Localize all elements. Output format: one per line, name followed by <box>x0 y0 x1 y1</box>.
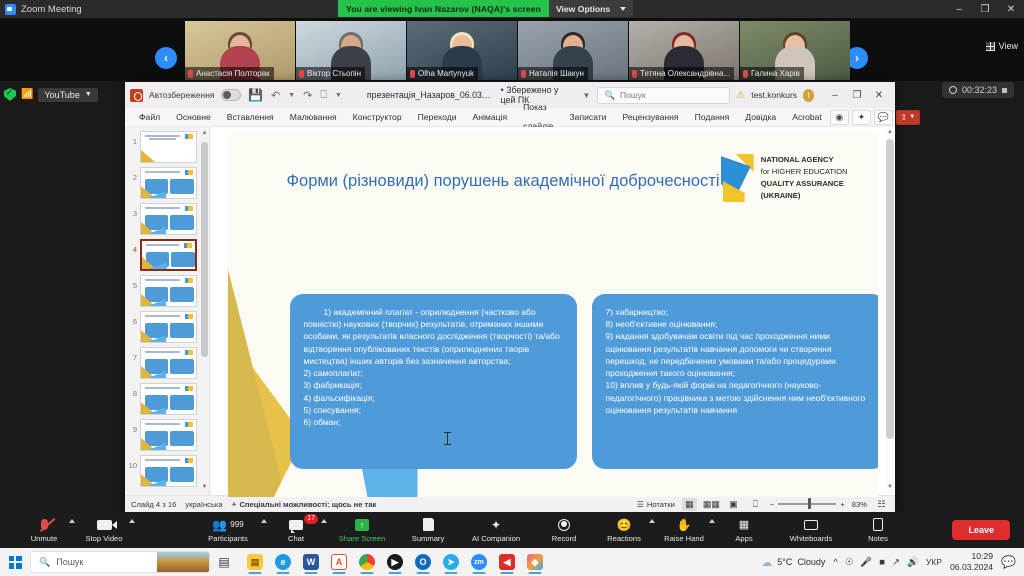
share-screen-label: Share Screen <box>339 534 385 543</box>
powerpoint-close-button[interactable]: ✕ <box>868 85 890 105</box>
violation-item-3: 3) фабрикація; <box>304 379 563 391</box>
taskbar-app-microsoft-word[interactable]: W <box>298 549 324 575</box>
participant-tile[interactable]: Галина Харів <box>740 21 850 80</box>
ribbon-tab-record[interactable]: Записати <box>561 108 614 127</box>
slide-preview[interactable] <box>140 167 197 199</box>
show-hidden-icons-icon[interactable]: ^ <box>833 557 837 568</box>
zoom-icon: zm <box>471 554 487 570</box>
document-title[interactable]: презентація_Назаров_06.03… <box>367 90 491 100</box>
scroll-down-icon[interactable]: ▼ <box>201 484 208 492</box>
participants-count: 999 <box>230 520 243 529</box>
ai-sparkle-icon: ✦ <box>491 517 501 532</box>
scroll-up-icon[interactable]: ▲ <box>201 130 208 138</box>
microphone-muted-icon <box>188 70 193 78</box>
participant-name-bar: Olha Martynyuk <box>407 67 478 80</box>
slide-number: 1 <box>128 131 137 146</box>
participant-name-bar: Галина Харів <box>740 67 804 80</box>
slide-preview[interactable] <box>140 203 197 235</box>
view-slide-sorter-button[interactable]: ▦▦ <box>704 498 719 511</box>
chevron-down-icon <box>620 7 626 11</box>
status-bar-right: ☰ Нотатки ▦ ▦▦ ▣ ⎕ − + 83% ☷ <box>637 498 889 511</box>
whiteboards-button[interactable]: Whiteboards <box>774 517 848 543</box>
search-highlight-thumbnail <box>157 552 209 573</box>
notifications-button[interactable]: 💬 <box>1001 555 1016 569</box>
copilot-button[interactable]: ✦ <box>852 110 871 125</box>
notes-label: Notes <box>868 534 888 543</box>
reactions-label: Reactions <box>607 534 641 543</box>
violation-item-2: 2) самоплагіат; <box>304 367 563 379</box>
violation-item-4: 4) фальсифікація; <box>304 392 563 404</box>
slide-thumbnail-item[interactable]: 10 <box>125 455 209 487</box>
naqa-line-3: QUALITY ASSURANCE <box>761 178 848 190</box>
ribbon-tab-home[interactable]: Основне <box>168 108 219 127</box>
search-icon: 🔍 <box>39 557 50 568</box>
naqa-line-4: (UKRAINE) <box>761 190 848 202</box>
slide-thumbnail-panel[interactable]: 1 2 <box>125 127 210 495</box>
participant-video-strip: ‹ › View Анастасія Полторак <box>0 18 1024 81</box>
view-options-button[interactable]: View Options <box>549 0 633 17</box>
slide-thumbnail-item[interactable]: 9 <box>125 419 209 451</box>
wifi-icon[interactable]: ↗ <box>892 557 900 568</box>
zoom-out-button[interactable]: − <box>770 500 774 509</box>
whiteboard-icon <box>804 517 818 532</box>
participant-tile[interactable]: Наталія Шакун <box>518 21 628 80</box>
accessibility-icon: ⚹ <box>232 499 237 509</box>
microphone-icon[interactable]: 🎤 <box>860 557 872 568</box>
cloud-icon: ☁ <box>761 556 772 569</box>
screen-share-banner: You are viewing Ivan Nazarov (NAQA)'s sc… <box>338 0 633 17</box>
warning-icon: ⚠ <box>736 90 745 101</box>
zoom-minimize-button[interactable]: – <box>946 0 972 18</box>
weather-description: Cloudy <box>797 557 825 567</box>
battery-icon[interactable]: ■ <box>879 557 885 568</box>
adobe-acrobat-icon: A <box>331 554 347 570</box>
taskbar-app-file-explorer[interactable]: ▤ <box>242 549 268 575</box>
powerpoint-search-input[interactable]: 🔍 Пошук <box>597 87 730 104</box>
chat-unread-badge: 17 <box>304 514 318 524</box>
google-chrome-icon <box>359 554 375 570</box>
raise-hand-label: Raise Hand <box>664 534 704 543</box>
decorative-gold-shape-2 <box>228 267 286 497</box>
camera-icon <box>97 517 112 532</box>
account-name[interactable]: test.konkurs <box>751 90 797 100</box>
apps-label: Apps <box>735 534 752 543</box>
slide-thumbnail-item[interactable]: 7 <box>125 347 209 379</box>
violation-item-1: 1) академічний плагіат - оприлюднення (ч… <box>304 306 563 367</box>
slide-thumbnail-item[interactable]: 2 <box>125 167 209 199</box>
slide-number: 2 <box>128 167 137 182</box>
zoom-titlebar: Zoom Meeting You are viewing Ivan Nazaro… <box>0 0 1024 18</box>
participants-button[interactable]: 👥 999 Participants <box>190 517 266 543</box>
leave-meeting-button[interactable]: Leave <box>952 520 1010 540</box>
scroll-down-icon[interactable]: ▼ <box>886 484 894 493</box>
start-presentation-icon[interactable]: ⎕ <box>319 89 328 102</box>
media-player-icon: ▶ <box>387 554 403 570</box>
zoom-window-controls: – ❐ ✕ <box>946 0 1024 18</box>
text-cursor-icon <box>447 432 448 445</box>
zoom-window-title: Zoom Meeting <box>21 4 82 15</box>
whiteboards-label: Whiteboards <box>790 534 833 543</box>
violation-item-8: 8) необ'єктивне оцінювання; <box>606 318 871 330</box>
zoom-slider-track[interactable] <box>778 503 836 505</box>
slide-preview[interactable] <box>140 239 197 271</box>
participant-name-bar: Тетяна Олександрівна... <box>629 67 734 80</box>
slide-number: 4 <box>128 239 137 254</box>
security-shield-icon <box>4 88 16 101</box>
undo-icon[interactable]: ↶ <box>270 89 281 102</box>
taskbar-app-zoom[interactable]: zm <box>466 549 492 575</box>
task-view-button[interactable]: ▤ <box>210 555 238 569</box>
weather-temperature: 5°C <box>777 557 792 567</box>
zoom-meeting-toolbar: Unmute Stop Video 👥 999 Participants 17 <box>0 512 1024 548</box>
microphone-muted-icon <box>521 70 526 78</box>
recording-indicator-icon <box>1002 88 1007 93</box>
ribbon-tab-draw[interactable]: Малювання <box>282 108 345 127</box>
record-icon <box>558 517 570 532</box>
thumbnail-panel-scrollbar[interactable]: ▲ ▼ <box>201 130 208 492</box>
reactions-icon: 😊 <box>617 517 632 532</box>
ribbon-tab-file[interactable]: Файл <box>131 108 168 127</box>
view-slideshow-button[interactable]: ⎕ <box>748 498 763 511</box>
tray-icons: ^ ☉ 🎤 ■ ↗ 🔊 УКР <box>833 557 942 568</box>
zoom-level-label[interactable]: 83% <box>852 500 867 509</box>
participant-name: Olha Martynyuk <box>418 69 474 78</box>
violation-item-7: 7) хабарництво; <box>606 306 871 318</box>
ribbon-tab-transitions[interactable]: Переходи <box>410 108 465 127</box>
participants-label: Participants <box>208 534 248 543</box>
summary-label: Summary <box>412 534 445 543</box>
taskbar-app-adobe-acrobat[interactable]: A <box>326 549 352 575</box>
taskbar-search-input[interactable]: 🔍 Пошук <box>30 551 210 573</box>
chat-label: Chat <box>288 534 304 543</box>
participant-tile[interactable]: Віктор Стьопін <box>296 21 406 80</box>
slide-preview[interactable] <box>140 131 197 163</box>
unmute-label: Unmute <box>31 534 58 543</box>
chevron-up-icon[interactable] <box>129 519 135 523</box>
slide-counter[interactable]: Слайд 4 з 16 <box>131 500 176 509</box>
violation-item-9: 9) надання здобувачам освіти під час про… <box>606 330 871 379</box>
naqa-logo-mark-icon <box>721 154 754 202</box>
naqa-logo-text: NATIONAL AGENCY for HIGHER EDUCATION QUA… <box>761 154 848 201</box>
taskbar-app-paint[interactable]: ◆ <box>522 549 548 575</box>
redo-icon[interactable]: ↷ <box>302 89 313 102</box>
microphone-muted-icon <box>41 517 48 532</box>
scrollbar-thumb[interactable] <box>201 142 208 357</box>
slide-thumbnail-item[interactable]: 8 <box>125 383 209 415</box>
present-button[interactable]: ◉ <box>830 110 849 125</box>
chevron-down-icon[interactable]: ▼ <box>582 91 592 100</box>
notes-toggle[interactable]: ☰ Нотатки <box>637 500 675 509</box>
current-slide[interactable]: Форми (різновиди) порушень академічної д… <box>228 132 878 497</box>
telegram-icon: ➤ <box>443 554 459 570</box>
slide-number: 10 <box>128 455 137 470</box>
view-options-label: View Options <box>556 4 610 14</box>
windows-logo-icon <box>9 556 22 569</box>
slide-area-scrollbar[interactable]: ▲ ▼ <box>886 129 894 493</box>
stop-video-button[interactable]: Stop Video <box>74 517 134 543</box>
slide-preview[interactable] <box>140 347 197 379</box>
microphone-muted-icon <box>743 70 748 78</box>
raise-hand-button[interactable]: ✋ Raise Hand <box>654 517 714 543</box>
stop-video-label: Stop Video <box>85 534 122 543</box>
violation-item-6: 6) обман; <box>304 416 563 428</box>
powerpoint-workspace: 1 2 <box>125 127 895 495</box>
broadcast-icon: 📶 <box>21 89 33 100</box>
volume-icon[interactable]: 🔊 <box>907 557 919 568</box>
ribbon-tab-review[interactable]: Рецензування <box>615 108 687 127</box>
slide-preview[interactable] <box>140 275 197 307</box>
slide-thumbnail-item-selected[interactable]: 4 <box>125 239 209 271</box>
powerpoint-minimize-button[interactable]: – <box>824 85 846 105</box>
accessibility-label: Спеціальні можливості: щось не так <box>239 500 376 509</box>
violation-item-5: 5) списування; <box>304 404 563 416</box>
naqa-logo: NATIONAL AGENCY for HIGHER EDUCATION QUA… <box>721 154 848 202</box>
ribbon-right-actions: ◉ ✦ 💬 ⇧▼ <box>830 110 920 125</box>
share-screen-button[interactable]: ↑ Share Screen <box>326 517 398 543</box>
notes-button[interactable]: Notes <box>848 517 908 543</box>
desktop-root: Zoom Meeting You are viewing Ivan Nazaro… <box>0 0 1024 576</box>
save-icon[interactable]: 💾 <box>247 88 264 102</box>
meeting-elapsed-time: 00:32:23 <box>962 85 997 95</box>
participant-tile[interactable]: Olha Martynyuk <box>407 21 517 80</box>
share-screen-icon: ↑ <box>355 517 369 532</box>
ribbon-tab-view[interactable]: Подання <box>687 108 738 127</box>
participant-tile[interactable]: Тетяна Олександрівна... <box>629 21 739 80</box>
youtube-stream-button[interactable]: YouTube ▼ <box>38 88 97 102</box>
slide-number: 3 <box>128 203 137 218</box>
microsoft-word-icon: W <box>303 554 319 570</box>
powerpoint-app-icon <box>130 89 143 102</box>
view-normal-button[interactable]: ▦ <box>682 498 697 511</box>
accessibility-status[interactable]: ⚹ Спеціальні можливості: щось не так <box>232 499 377 509</box>
ribbon-tab-insert[interactable]: Вставлення <box>219 108 282 127</box>
taskbar-app-google-chrome[interactable] <box>354 549 380 575</box>
view-reading-button[interactable]: ▣ <box>726 498 741 511</box>
clock-widget[interactable]: 10:29 06.03.2024 <box>950 551 993 572</box>
participant-name: Віктор Стьопін <box>307 69 361 78</box>
slide-preview[interactable] <box>140 383 197 415</box>
ribbon-tab-bar: Файл Основне Вставлення Малювання Констр… <box>125 108 895 127</box>
share-notice-text: You are viewing Ivan Nazarov (NAQA)'s sc… <box>338 0 549 17</box>
windows-taskbar: 🔍 Пошук ▤ ▤ e W A ▶ O ➤ zm ◀ ◆ ☁ 5°C Clo… <box>0 548 1024 576</box>
raise-hand-icon: ✋ <box>677 517 692 532</box>
slide-preview[interactable] <box>140 419 197 451</box>
zoom-in-button[interactable]: + <box>840 500 844 509</box>
participant-name: Наталія Шакун <box>529 69 584 78</box>
search-icon: 🔍 <box>604 90 615 101</box>
fit-to-window-button[interactable]: ☷ <box>874 498 889 511</box>
previous-participants-button[interactable]: ‹ <box>155 47 177 69</box>
slide-thumbnail-item[interactable]: 1 <box>125 131 209 163</box>
zoom-slider-handle[interactable] <box>808 498 811 509</box>
record-label: Record <box>552 534 576 543</box>
participant-name: Анастасія Полторак <box>196 69 270 78</box>
powerpoint-titlebar: Автозбереження 💾 ↶ ▼ ↷ ⎕ ▼ презентація_Н… <box>125 82 895 108</box>
slide-content-box-right[interactable]: 7) хабарництво; 8) необ'єктивне оцінюван… <box>592 294 878 469</box>
powerpoint-window-controls: – ❐ ✕ <box>824 85 890 105</box>
apps-icon: ▦ <box>739 517 749 532</box>
start-button[interactable] <box>0 556 30 569</box>
taskbar-date: 06.03.2024 <box>950 562 993 573</box>
zoom-maximize-button[interactable]: ❐ <box>972 0 998 18</box>
language-indicator[interactable]: українська <box>185 500 222 509</box>
ribbon-tab-acrobat[interactable]: Acrobat <box>784 108 830 127</box>
meeting-timer: 00:32:23 <box>942 82 1014 98</box>
view-button-label: View <box>999 41 1018 51</box>
live-stream-indicator[interactable]: 📶 YouTube ▼ <box>4 86 98 103</box>
zoom-slider[interactable]: − + <box>770 500 845 509</box>
notes-icon: ☰ <box>637 500 644 509</box>
taskbar-app-media-player[interactable]: ▶ <box>382 549 408 575</box>
grid-view-icon <box>986 42 995 51</box>
participant-name-bar: Віктор Стьопін <box>296 67 365 80</box>
weather-widget[interactable]: ☁ 5°C Cloudy <box>761 556 825 569</box>
slide-number: 6 <box>128 311 137 326</box>
participant-tile[interactable]: Анастасія Полторак <box>185 21 295 80</box>
summary-button[interactable]: Summary <box>398 517 458 543</box>
microphone-muted-icon <box>299 70 304 78</box>
zoom-logo-icon <box>5 4 16 15</box>
slide-title[interactable]: Форми (різновиди) порушень академічної д… <box>276 170 731 193</box>
participant-name: Галина Харів <box>751 69 800 78</box>
zoom-close-button[interactable]: ✕ <box>998 0 1024 18</box>
undo-dropdown-icon[interactable]: ▼ <box>287 92 296 99</box>
outlook-icon: O <box>415 554 431 570</box>
autosave-label: Автозбереження <box>149 90 215 100</box>
customize-toolbar-icon[interactable]: ▼ <box>334 92 343 99</box>
taskbar-app-outlook[interactable]: O <box>410 549 436 575</box>
notes-label: Нотатки <box>647 500 675 509</box>
language-indicator[interactable]: УКР <box>926 557 942 567</box>
screen-recorder-icon: ◀ <box>499 554 515 570</box>
record-button[interactable]: Record <box>534 517 594 543</box>
participant-name-bar: Анастасія Полторак <box>185 67 274 80</box>
participant-name-bar: Наталія Шакун <box>518 67 588 80</box>
taskbar-app-screen-recorder[interactable]: ◀ <box>494 549 520 575</box>
taskbar-time: 10:29 <box>950 551 993 562</box>
unmute-button[interactable]: Unmute <box>14 517 74 543</box>
taskbar-app-microsoft-edge[interactable]: e <box>270 549 296 575</box>
taskbar-app-telegram[interactable]: ➤ <box>438 549 464 575</box>
reactions-button[interactable]: 😊 Reactions <box>594 517 654 543</box>
ai-companion-button[interactable]: ✦ AI Companion <box>458 517 534 543</box>
participant-name: Тетяна Олександрівна... <box>640 69 730 78</box>
view-layout-button[interactable]: View <box>986 41 1018 51</box>
microphone-muted-icon <box>632 70 637 78</box>
microsoft-edge-icon: e <box>275 554 291 570</box>
slide-thumbnail-item[interactable]: 5 <box>125 275 209 307</box>
slide-number: 5 <box>128 275 137 290</box>
microphone-muted-icon <box>410 70 415 78</box>
paint-icon: ◆ <box>527 554 543 570</box>
ribbon-tab-animations[interactable]: Анімація <box>465 108 516 127</box>
ai-companion-label: AI Companion <box>472 534 520 543</box>
slide-number: 7 <box>128 347 137 362</box>
share-button[interactable]: ⇧▼ <box>896 110 920 125</box>
scroll-up-icon[interactable]: ▲ <box>886 129 894 138</box>
chat-button[interactable]: 17 Chat <box>266 517 326 543</box>
taskbar-system-tray: ☁ 5°C Cloudy ^ ☉ 🎤 ■ ↗ 🔊 УКР 10:29 06.03… <box>761 551 1024 572</box>
youtube-stream-label: YouTube <box>44 90 79 100</box>
slide-thumbnail-item[interactable]: 6 <box>125 311 209 343</box>
notes-icon <box>873 517 883 532</box>
apps-button[interactable]: ▦ Apps <box>714 517 774 543</box>
slide-number: 9 <box>128 419 137 434</box>
autosave-toggle[interactable] <box>221 89 242 101</box>
slide-thumbnail-item[interactable]: 3 <box>125 203 209 235</box>
naqa-line-1: NATIONAL AGENCY <box>761 154 848 166</box>
clock-icon <box>949 86 957 94</box>
toolbar-left-group: Unmute Stop Video 👥 999 Participants 17 <box>0 517 908 543</box>
scrollbar-thumb[interactable] <box>886 139 894 439</box>
people-icon: 👥 999 <box>212 517 243 532</box>
taskbar-app-list: ▤ e W A ▶ O ➤ zm ◀ ◆ <box>242 549 548 575</box>
webcam-icon[interactable]: ☉ <box>845 557 854 568</box>
chevron-down-icon: ▼ <box>85 91 92 98</box>
slide-number: 8 <box>128 383 137 398</box>
slide-thumbnail-list: 1 2 <box>125 127 209 487</box>
ribbon-tab-design[interactable]: Конструктор <box>345 108 410 127</box>
search-placeholder: Пошук <box>620 90 646 100</box>
summary-icon <box>423 517 434 532</box>
chat-icon <box>289 517 303 532</box>
slide-preview[interactable] <box>140 311 197 343</box>
violation-item-10: 10) вплив у будь-якій формі на педагогіч… <box>606 379 871 416</box>
search-placeholder: Пошук <box>56 557 83 567</box>
powerpoint-status-bar: Слайд 4 з 16 українська ⚹ Спеціальні мож… <box>125 495 895 512</box>
avatar[interactable]: t <box>803 89 814 102</box>
slide-editing-area[interactable]: Форми (різновиди) порушень академічної д… <box>210 127 895 495</box>
ribbon-tab-help[interactable]: Довідка <box>737 108 784 127</box>
naqa-line-2: for HIGHER EDUCATION <box>761 166 848 178</box>
powerpoint-restore-button[interactable]: ❐ <box>846 85 868 105</box>
file-explorer-icon: ▤ <box>247 554 263 570</box>
comments-button[interactable]: 💬 <box>874 110 893 125</box>
slide-preview[interactable] <box>140 455 197 487</box>
powerpoint-window: Автозбереження 💾 ↶ ▼ ↷ ⎕ ▼ презентація_Н… <box>125 82 895 512</box>
slide-content-box-left[interactable]: 1) академічний плагіат - оприлюднення (ч… <box>290 294 577 469</box>
video-thumbnails: Анастасія Полторак Віктор Стьопін <box>185 21 850 80</box>
